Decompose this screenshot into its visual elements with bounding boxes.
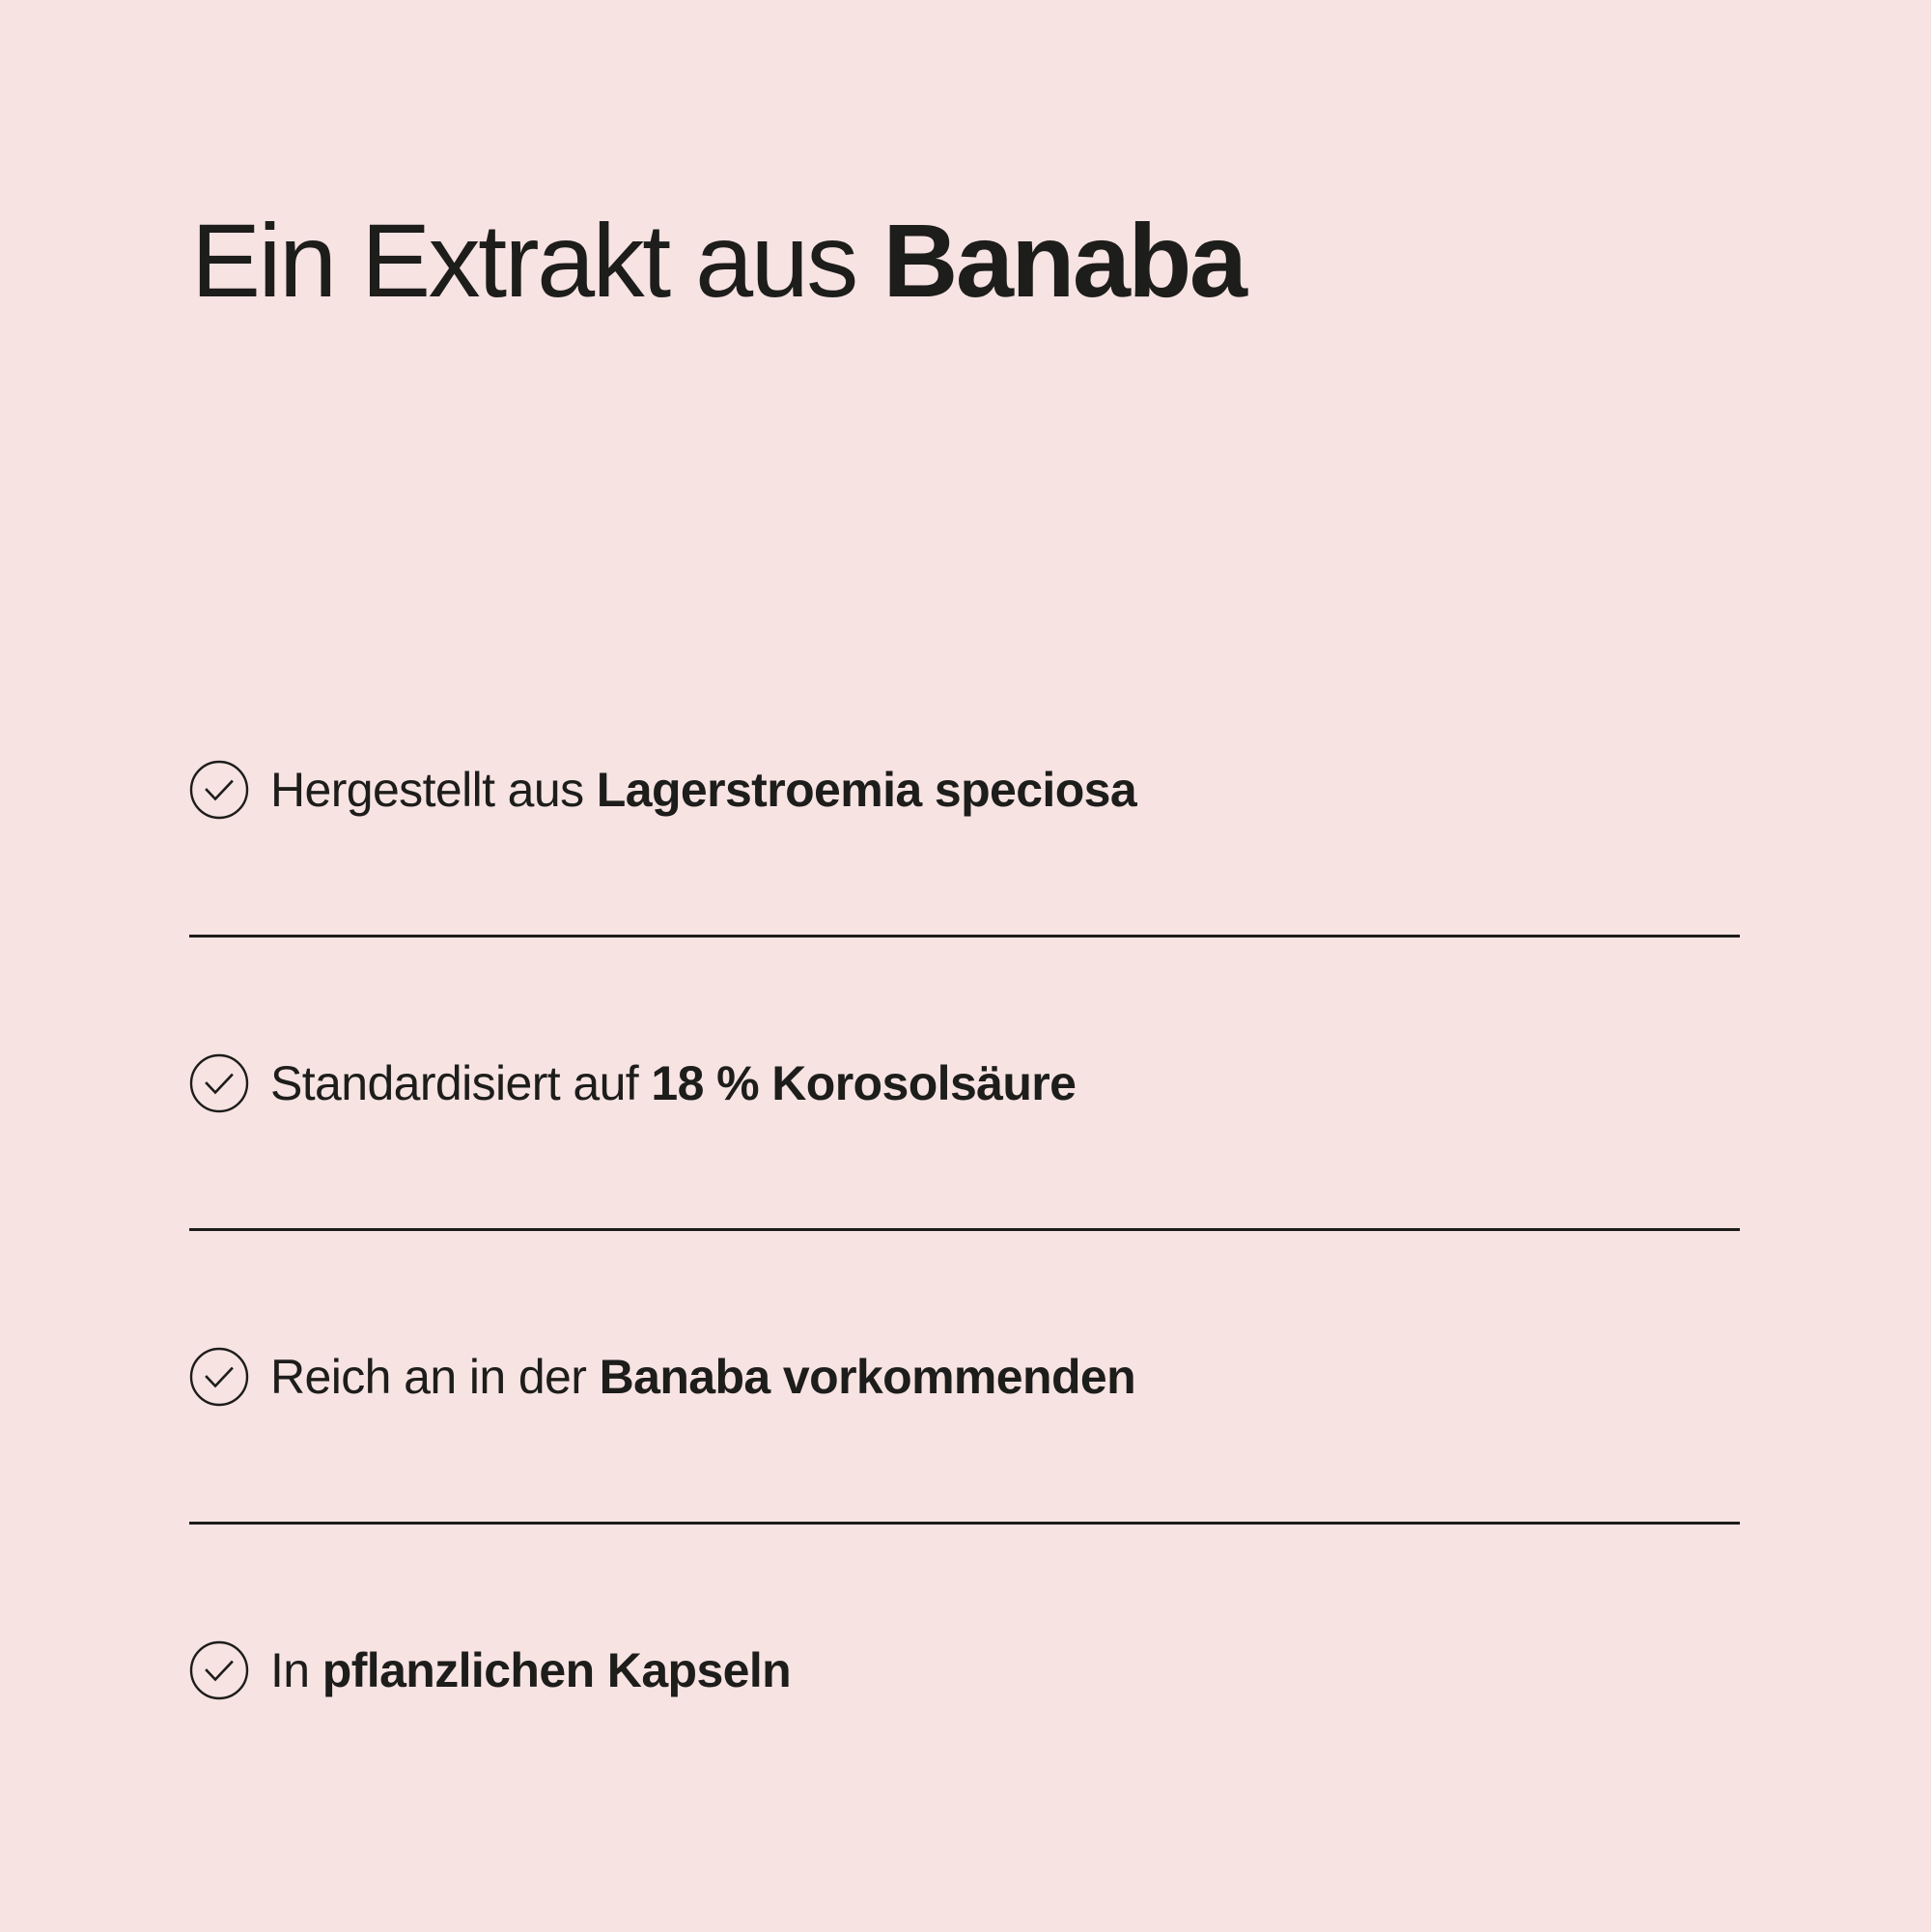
list-item-label: Hergestellt aus Lagerstroemia speciosa bbox=[270, 763, 1136, 817]
check-circle-icon bbox=[189, 1347, 249, 1407]
list-item-label-bold: Banaba vorkommenden bbox=[600, 1350, 1135, 1404]
list-item-label-regular: Reich an in der bbox=[270, 1350, 600, 1404]
page-title-regular-part: Ein Extrakt aus bbox=[191, 202, 882, 319]
feature-list: Hergestellt aus Lagerstroemia speciosa S… bbox=[189, 719, 1740, 1740]
list-item-label: In pflanzlichen Kapseln bbox=[270, 1643, 791, 1697]
spacer bbox=[189, 1153, 1740, 1228]
list-item: Standardisiert auf 18 % Korosolsäure bbox=[189, 1013, 1740, 1153]
spacer bbox=[189, 859, 1740, 935]
spacer bbox=[189, 1525, 1740, 1600]
page-title-bold-part: Banaba bbox=[882, 202, 1245, 319]
list-item: In pflanzlichen Kapseln bbox=[189, 1600, 1740, 1740]
marketing-card: Ein Extrakt aus Banaba Hergestellt aus L… bbox=[0, 0, 1931, 1932]
spacer bbox=[189, 1446, 1740, 1522]
list-item-label-bold: 18 % Korosolsäure bbox=[651, 1056, 1076, 1110]
list-item-label-regular: Standardisiert auf bbox=[270, 1056, 651, 1110]
list-item-label-bold: Lagerstroemia speciosa bbox=[597, 763, 1136, 817]
spacer bbox=[189, 1231, 1740, 1306]
check-circle-icon bbox=[189, 1640, 249, 1700]
list-item-label-bold: pflanzlichen Kapseln bbox=[322, 1643, 791, 1697]
spacer bbox=[189, 938, 1740, 1013]
list-item-label: Standardisiert auf 18 % Korosolsäure bbox=[270, 1056, 1076, 1110]
check-circle-icon bbox=[189, 1053, 249, 1113]
list-item: Hergestellt aus Lagerstroemia speciosa bbox=[189, 719, 1740, 859]
page-title: Ein Extrakt aus Banaba bbox=[191, 205, 1245, 318]
list-item-label: Reich an in der Banaba vorkommenden bbox=[270, 1350, 1135, 1404]
list-item: Reich an in der Banaba vorkommenden bbox=[189, 1306, 1740, 1446]
list-item-label-regular: In bbox=[270, 1643, 322, 1697]
list-item-label-regular: Hergestellt aus bbox=[270, 763, 597, 817]
check-circle-icon bbox=[189, 760, 249, 820]
